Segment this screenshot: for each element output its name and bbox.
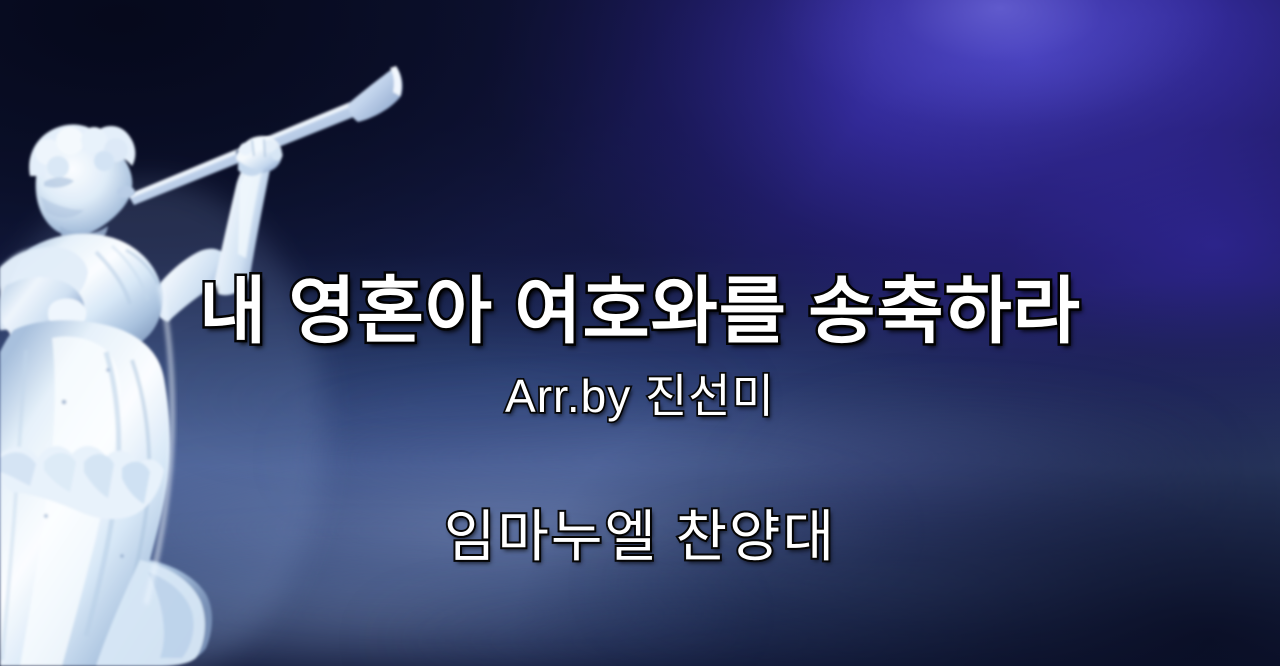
song-title: 내 영혼아 여호와를 송축하라 [0, 252, 1280, 358]
choir-name: 임마누엘 찬양대 [0, 492, 1280, 573]
arranger-credit: Arr.by 진선미 [0, 360, 1280, 426]
overlay-text-layer: 내 영혼아 여호와를 송축하라 Arr.by 진선미 임마누엘 찬양대 [0, 0, 1280, 666]
title-card-stage: 내 영혼아 여호와를 송축하라 Arr.by 진선미 임마누엘 찬양대 [0, 0, 1280, 666]
